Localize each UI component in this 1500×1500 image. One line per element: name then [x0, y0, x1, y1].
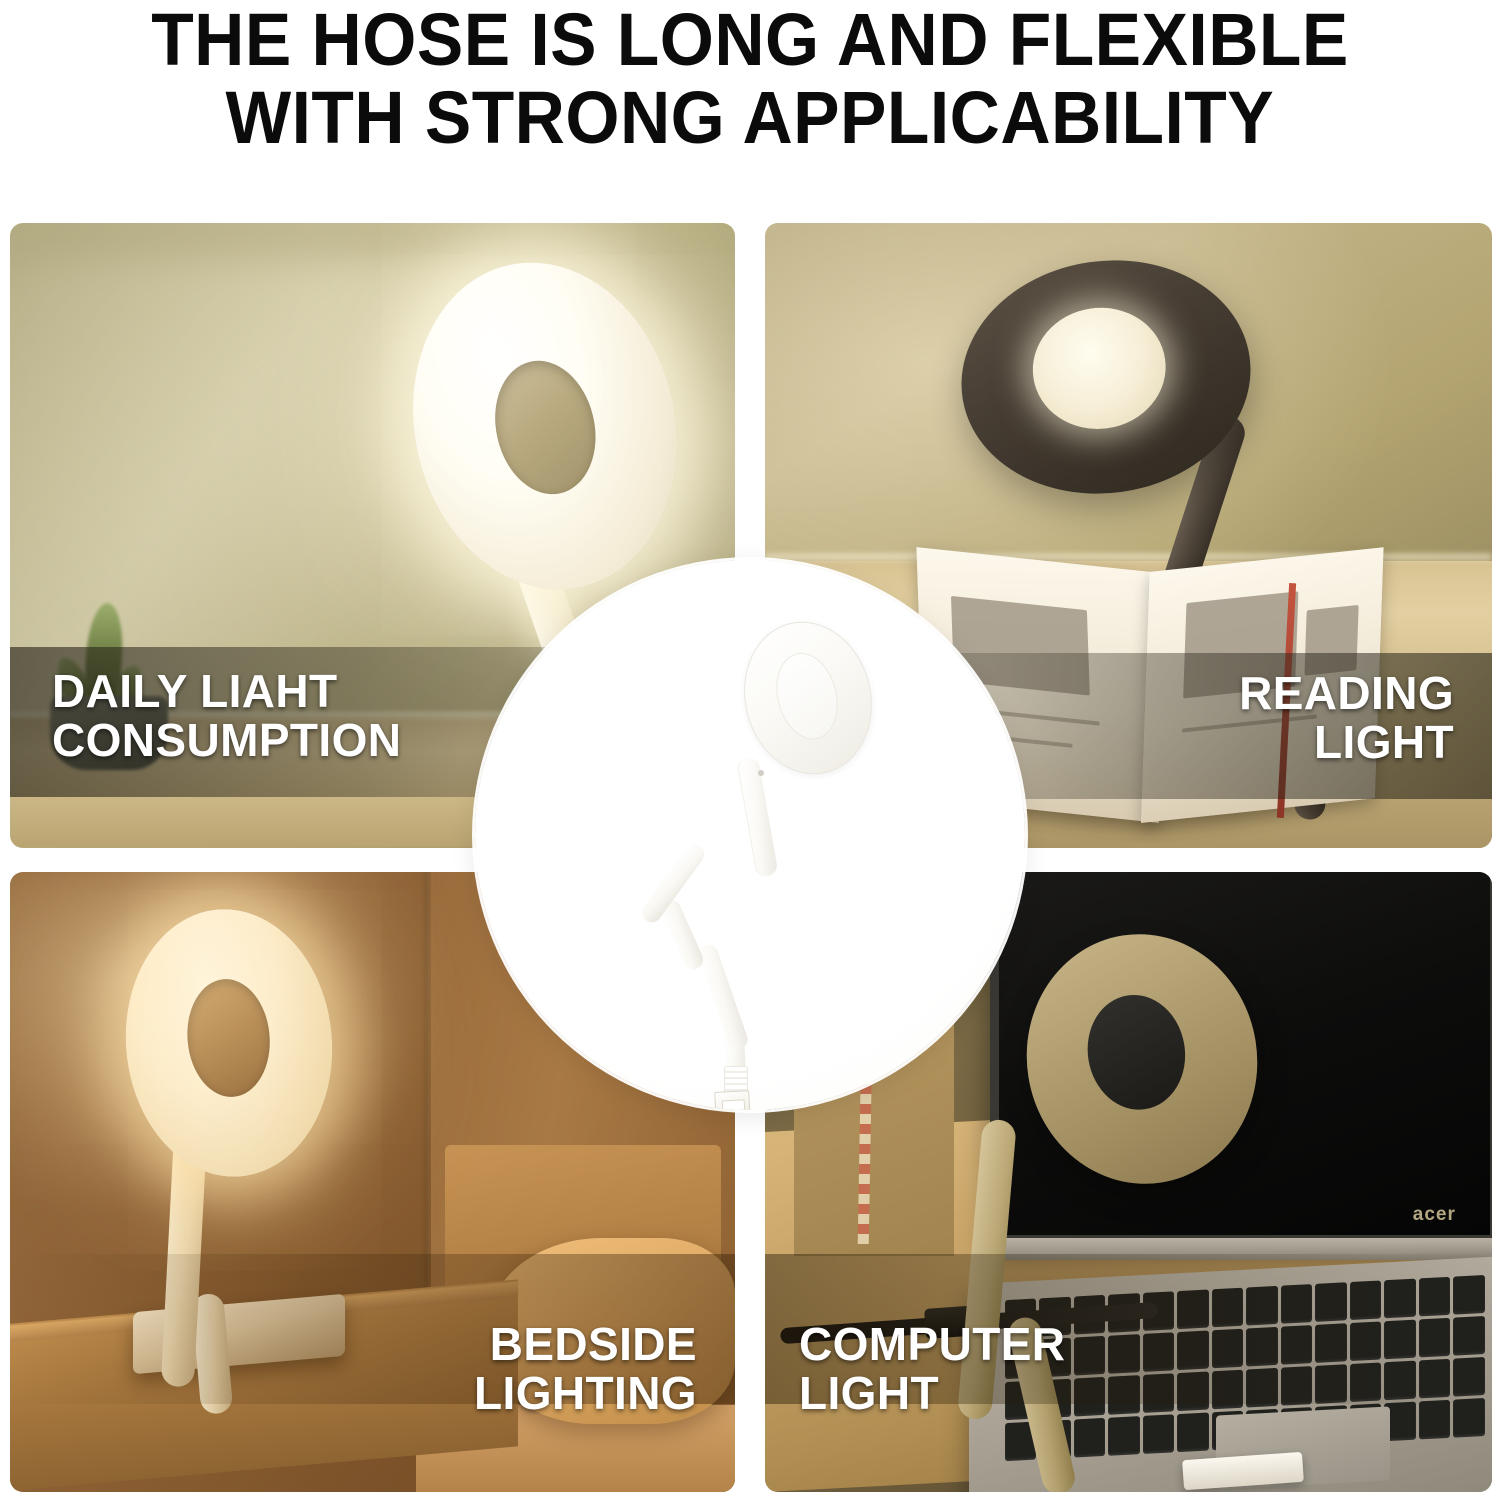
keyboard-key	[1384, 1320, 1415, 1360]
keyboard-key	[1143, 1332, 1174, 1372]
led-ring-head	[381, 235, 709, 615]
keyboard-key	[1419, 1318, 1450, 1358]
keyboard-key	[1212, 1288, 1243, 1328]
keyboard-key	[1177, 1413, 1208, 1453]
keyboard-key	[1419, 1359, 1450, 1399]
usb-gooseneck-lamp-product	[475, 560, 1025, 1110]
keyboard-key	[1108, 1375, 1139, 1415]
touch-sensor-dot	[758, 770, 764, 776]
keyboard-key	[1246, 1368, 1278, 1408]
keyboard-key	[1315, 1323, 1346, 1363]
keyboard-key	[1453, 1275, 1484, 1315]
keyboard-key	[1212, 1329, 1243, 1369]
keyboard-key	[1246, 1286, 1278, 1326]
keyboard-key	[1315, 1282, 1346, 1322]
keyboard-key	[1108, 1416, 1139, 1456]
keyboard-key	[1453, 1357, 1484, 1397]
keyboard-key	[1350, 1321, 1381, 1361]
keyboard-key	[1074, 1377, 1105, 1417]
panel-label-reading-light: READING LIGHT	[1239, 669, 1454, 767]
keyboard-key	[1384, 1279, 1415, 1319]
gooseneck-segment	[696, 942, 751, 1053]
keyboard-key	[1453, 1398, 1484, 1438]
keyboard-key	[1350, 1363, 1381, 1403]
keyboard-key	[1177, 1331, 1208, 1371]
center-product-circle[interactable]	[475, 560, 1025, 1110]
keyboard-key	[1384, 1361, 1415, 1401]
keyboard-key	[1143, 1373, 1174, 1413]
laptop-hinge	[990, 1238, 1492, 1260]
headline-line-2: WITH STRONG APPLICABILITY	[226, 80, 1275, 156]
keyboard-key	[1212, 1370, 1243, 1410]
keyboard-key	[1350, 1280, 1381, 1320]
laptop-brand-logo: acer	[1413, 1204, 1456, 1226]
panel-label-bedside-lighting: BEDSIDE LIGHTING	[474, 1320, 697, 1418]
keyboard-key	[1108, 1334, 1139, 1374]
keyboard-key	[1419, 1277, 1450, 1317]
usb-a-connector	[714, 1090, 751, 1110]
keyboard-key	[1074, 1336, 1105, 1376]
keyboard-key	[1315, 1364, 1346, 1404]
headline-line-1: THE HOSE IS LONG AND FLEXIBLE	[151, 2, 1349, 78]
keyboard-key	[1419, 1400, 1450, 1440]
keyboard-key	[1453, 1316, 1484, 1356]
panel-label-daily-light-consumption: DAILY LIAHT CONSUMPTION	[52, 667, 401, 765]
panel-label-computer-light: COMPUTER LIGHT	[799, 1320, 1065, 1418]
keyboard-key	[1281, 1366, 1312, 1406]
keyboard-key	[1177, 1289, 1208, 1329]
keyboard-key	[1177, 1372, 1208, 1412]
keyboard-key	[1143, 1414, 1174, 1454]
keyboard-key	[1281, 1284, 1312, 1324]
product-infographic: THE HOSE IS LONG AND FLEXIBLE WITH STRON…	[0, 0, 1500, 1500]
magazine-photo	[1305, 605, 1359, 676]
keyboard-key	[1074, 1418, 1105, 1458]
lamp-glow	[10, 872, 445, 1207]
keyboard-key	[1246, 1327, 1278, 1367]
keyboard-key	[1281, 1325, 1312, 1365]
headline-banner: THE HOSE IS LONG AND FLEXIBLE WITH STRON…	[0, 0, 1500, 215]
